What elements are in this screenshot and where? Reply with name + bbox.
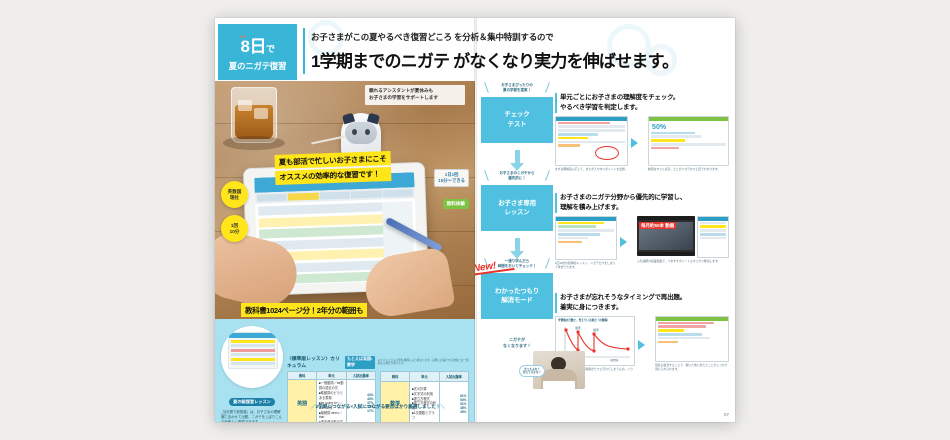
math-units: ■式の計算 ■文字式の利用 ■連立方程式 ■連立方程式の利用 ■1次関数とグラフ (410, 381, 439, 422)
curriculum-tables: 教科 単元 入試出題率 英語 ■一般動詞／be動詞の過去の文 ■助動詞のどうとあ… (287, 371, 469, 422)
lesson-thumbnail-pill: 夏の総復習レッスン (229, 398, 275, 406)
step-3-arrow-icon (638, 340, 652, 350)
step-3-caption-right: 何度も復習することで、解いた後に覚えたことがしっかり頭に入れられます。 (655, 363, 729, 371)
flow-end-note: ニガテがなくなります！ (481, 337, 553, 349)
step-3-screenshot-quiz (655, 316, 729, 362)
flow-arrow-1 (481, 143, 553, 169)
callout-yellow-bottom: 教科書1024ページ分！2年分の範囲も 絞りこんでいるから8日で終わります (241, 303, 367, 319)
curriculum-table-math: 教科 単元 入試出題率 数学 ■式の計算 ■文字式の利用 ■連立方程式 ■連立方… (380, 371, 469, 422)
callout-robot-line2: お子さまの学習をサポートします (369, 95, 461, 102)
flow-column: お子さまぴったりの夏の学習を提案！ チェックテスト お子さまのニガテから優先的に… (481, 81, 553, 349)
step-1-screenshot-question (555, 116, 628, 166)
step-1: 単元ごとにお子さまの理解度をチェック。 やるべき学習を判定します。 (555, 93, 729, 171)
col-rate: 入試出題率 (346, 372, 375, 380)
lesson-thumbnail-text: 「8日間で総復習」は、お子さまの理解度に合わせて出題。ニガテをしぼりこんで効率よ… (219, 410, 285, 422)
lesson-thumbnail (221, 326, 283, 388)
ribbon-text: 2学期につながる×入試につながる要点ばかり厳選しました！ (316, 404, 441, 409)
lesson-thumbnail-caption: 夏の総復習レッスン 「8日間で総復習」は、お子さまの理解度に合わせて出題。ニガテ… (219, 390, 285, 422)
subject-english: 英語 (288, 380, 317, 423)
header-band: •• 8日で 夏のニガテ復習 お子さまがこの夏やるべき復習どころ を分析＆集中特… (215, 18, 735, 81)
video-count-badge: 毎月約50本 動画 (639, 222, 676, 229)
curriculum-note: ※カリキュラムは学年・教科により異なります。実際にお届けする内容とは一部異なる場… (378, 359, 469, 366)
highlight-circle-icon (595, 146, 619, 160)
hero-photo: 頼れるアシスタントが夏休みも お子さまの学習をサポートします (215, 81, 475, 319)
chip-free-trial: 無料体験 (443, 199, 469, 209)
step-2-screenshot-lesson (555, 216, 617, 260)
curriculum-table-english: 教科 単元 入試出題率 英語 ■一般動詞／be動詞の過去の文 ■助動詞のどうとあ… (287, 371, 376, 422)
step-3: お子さまが忘れそうなタイミングで再出題。 着実に身につきます。 学習後の日数と、… (555, 293, 729, 375)
table-row: 数学 ■式の計算 ■文字式の利用 ■連立方程式 ■連立方程式の利用 ■1次関数と… (381, 381, 469, 422)
chart-title: 学習後の日数と、覚えている割合（の関係） (556, 317, 634, 323)
svg-text:復習: 復習 (575, 326, 581, 330)
callout-robot: 頼れるアシスタントが夏休みも お子さまの学習をサポートします (365, 85, 465, 105)
header-tab-number: 8日で (218, 38, 297, 55)
bottom-ribbon: ／2学期につながる×入試につながる要点ばかり厳選しました！＼ (287, 404, 469, 410)
header-rule (303, 28, 305, 74)
ribbon-slash-right: ＼ (440, 404, 445, 409)
curriculum-table-block: 〈標準版レッスン〉カリキュラム たとえば英語・数学 ※カリキュラムは学年・教科に… (287, 355, 469, 422)
student-photo-block: やったよね？覚えてるかな？ (533, 351, 585, 389)
flow-box-private-lesson[interactable]: お子さま専用レッスン (481, 185, 553, 231)
flow-area: お子さまぴったりの夏の学習を提案！ チェックテスト お子さまのニガテから優先的に… (475, 81, 735, 422)
step-1-caption-right: 結果はすぐに表示。どこがニガテかひと目でわかります。 (648, 167, 729, 171)
flow-arrow-2 (481, 231, 553, 257)
step-2-arrow-icon (620, 237, 634, 247)
step-2: お子さまのニガテ分野から優先的に学習し、 理解を積み上げます。 (555, 193, 729, 269)
english-units: ■一般動詞／be動詞の過去の文 ■助動詞のどうとある表現 ■be going t… (317, 380, 346, 423)
header-lead: お子さまがこの夏やるべき復習どころ を分析＆集中特訓するので (311, 31, 729, 43)
flow-note-1: お子さまぴったりの夏の学習を提案！ (481, 81, 553, 95)
col-unit-2: 単元 (410, 372, 439, 382)
callout-robot-line1: 頼れるアシスタントが夏休みも (369, 88, 461, 95)
new-badge: New! (475, 259, 497, 277)
page-number-left: 06 (221, 412, 226, 417)
badge-subjects: 英数国理社 (221, 181, 248, 208)
page-number-right: 07 (724, 412, 729, 417)
step-2-caption-right: 人気講師の授業動画で、つまずきポイントもすっきり解決します。 (637, 259, 729, 263)
step-2-accent-bar (555, 193, 557, 213)
result-percentage: 50% (649, 121, 728, 131)
magazine-spread: 頼れるアシスタントが夏休みも お子さまの学習をサポートします (215, 18, 735, 422)
screenshot-root: 頼れるアシスタントが夏休みも お子さまの学習をサポートします (0, 0, 950, 440)
badge-duration: 1回10分 (221, 215, 248, 242)
iced-tea-glass (231, 87, 277, 143)
curriculum-title-badge: たとえば英語・数学 (345, 356, 375, 369)
flow-box-recall-mode[interactable]: New! わかったつもり解消モード (481, 273, 553, 319)
step-1-screenshot-result: 50% (648, 116, 729, 166)
math-rates: 61% 54% 51% 38% 35% (439, 381, 468, 422)
table-row: 英語 ■一般動詞／be動詞の過去の文 ■助動詞のどうとある表現 ■be goin… (288, 380, 376, 423)
step-2-description: お子さまのニガテ分野から優先的に学習し、 理解を積み上げます。 (560, 193, 686, 213)
curriculum-table-heading: 〈標準版レッスン〉カリキュラム たとえば英語・数学 ※カリキュラムは学年・教科に… (287, 355, 469, 369)
callout-yellow-top-line2: オススメの効率的な復習です！ (275, 166, 391, 184)
header-text: お子さまがこの夏やるべき復習どころ を分析＆集中特訓するので 1学期までのニガテ… (311, 31, 729, 72)
header-main: 1学期までのニガテ がなくなり実力を伸ばせます。 (311, 47, 729, 72)
col-rate-2: 入試出題率 (439, 372, 468, 382)
chip-trial-info: 1日1回15分〜できる (434, 169, 469, 187)
video-film-strip: 毎月約50本 動画 (637, 216, 695, 256)
step-1-description: 単元ごとにお子さまの理解度をチェック。 やるべき学習を判定します。 (560, 93, 679, 113)
speech-bubble: やったよね？覚えてるかな？ (519, 365, 545, 377)
curriculum-title: 〈標準版レッスン〉カリキュラム (287, 355, 342, 369)
step-1-accent-bar (555, 93, 557, 113)
step-1-arrow-icon (631, 138, 645, 148)
step-1-caption-left: まずは理解度に応じて、まちがえやすいポイントを出題。 (555, 167, 628, 171)
flow-note-2: お子さまのニガテから優先的に！ (481, 169, 553, 183)
step-3-description: お子さまが忘れそうなタイミングで再出題。 着実に身につきます。 (560, 293, 686, 313)
step-2-caption-left: 1回10分の短時間レッスン。ニガテだけをしぼって学習できます。 (555, 261, 617, 269)
header-tab: •• 8日で 夏のニガテ復習 (218, 24, 297, 80)
svg-text:4週間後: 4週間後 (610, 358, 619, 362)
english-rates: 44% 43% 37% 32% 17% (346, 380, 375, 423)
step-3-accent-bar (555, 293, 557, 313)
col-subject: 教科 (288, 372, 317, 380)
callout-yellow-bottom-line1: 教科書1024ページ分！2年分の範囲も (241, 303, 367, 317)
step-2-screenshot-video (697, 216, 729, 258)
flow-box-check-test[interactable]: チェックテスト (481, 97, 553, 143)
header-tab-sub: 夏のニガテ復習 (218, 60, 297, 72)
glass-shadow (223, 136, 285, 150)
callout-yellow-top: 夏も部活で忙しいお子さまにこそ オススメの効率的な復習です！ (274, 151, 391, 186)
svg-text:復習: 復習 (593, 328, 599, 332)
subject-math: 数学 (381, 381, 410, 422)
col-unit: 単元 (317, 372, 346, 380)
tab-dots-icon: •• (240, 34, 247, 41)
col-subject-2: 教科 (381, 372, 410, 382)
